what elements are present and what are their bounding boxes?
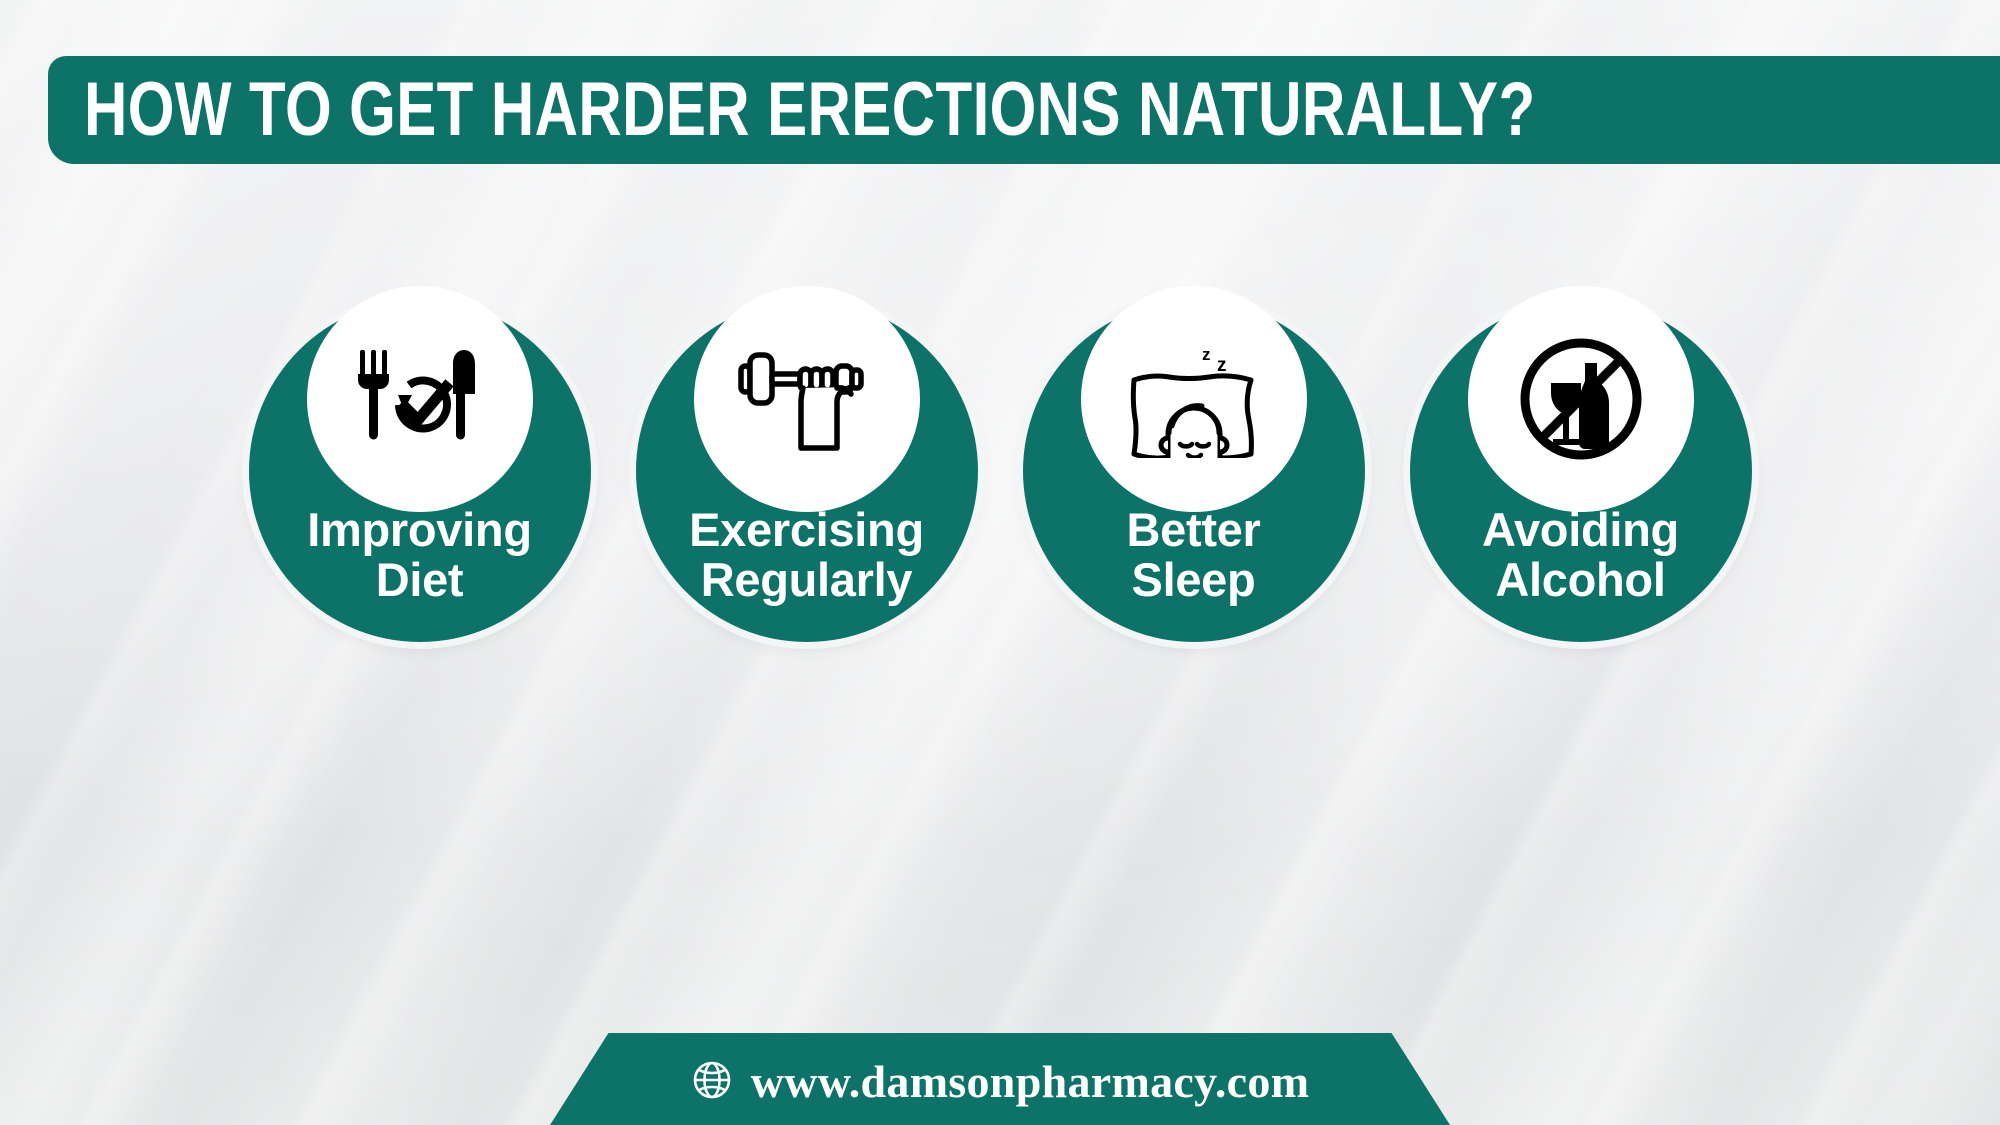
page-title: HOW TO GET HARDER ERECTIONS NATURALLY? — [84, 72, 1536, 148]
footer-banner: www.damsonpharmacy.com — [550, 1033, 1450, 1125]
no-alcohol-icon — [1517, 335, 1645, 463]
tip-card-avoiding-alcohol[interactable]: Avoiding Alcohol — [1410, 300, 1752, 642]
svg-text:z: z — [1217, 355, 1227, 376]
footer-website-url[interactable]: www.damsonpharmacy.com — [751, 1059, 1310, 1105]
tips-row: Improving Diet — [0, 300, 2000, 660]
icon-bubble-sleep: z z Z — [1081, 286, 1307, 512]
healthy-diet-icon — [354, 348, 486, 450]
tip-label: Exercising Regularly — [689, 505, 924, 607]
tip-card-exercising-regularly[interactable]: Exercising Regularly — [636, 300, 978, 642]
icon-bubble-diet — [307, 286, 533, 512]
tip-label: Better Sleep — [1126, 505, 1260, 607]
svg-text:z: z — [1202, 345, 1211, 364]
dumbbell-hand-icon — [737, 344, 877, 454]
tip-label: Improving Diet — [307, 505, 531, 607]
icon-bubble-exercise — [694, 286, 920, 512]
sleeping-face-pillow-icon: z z Z — [1124, 340, 1264, 458]
icon-bubble-alcohol — [1468, 286, 1694, 512]
infographic-canvas: HOW TO GET HARDER ERECTIONS NATURALLY? — [0, 0, 2000, 1125]
tip-card-improving-diet[interactable]: Improving Diet — [249, 300, 591, 642]
title-banner: HOW TO GET HARDER ERECTIONS NATURALLY? — [48, 56, 2000, 164]
tip-card-better-sleep[interactable]: z z Z — [1023, 300, 1365, 642]
tip-label: Avoiding Alcohol — [1482, 505, 1679, 607]
globe-icon — [691, 1059, 733, 1106]
